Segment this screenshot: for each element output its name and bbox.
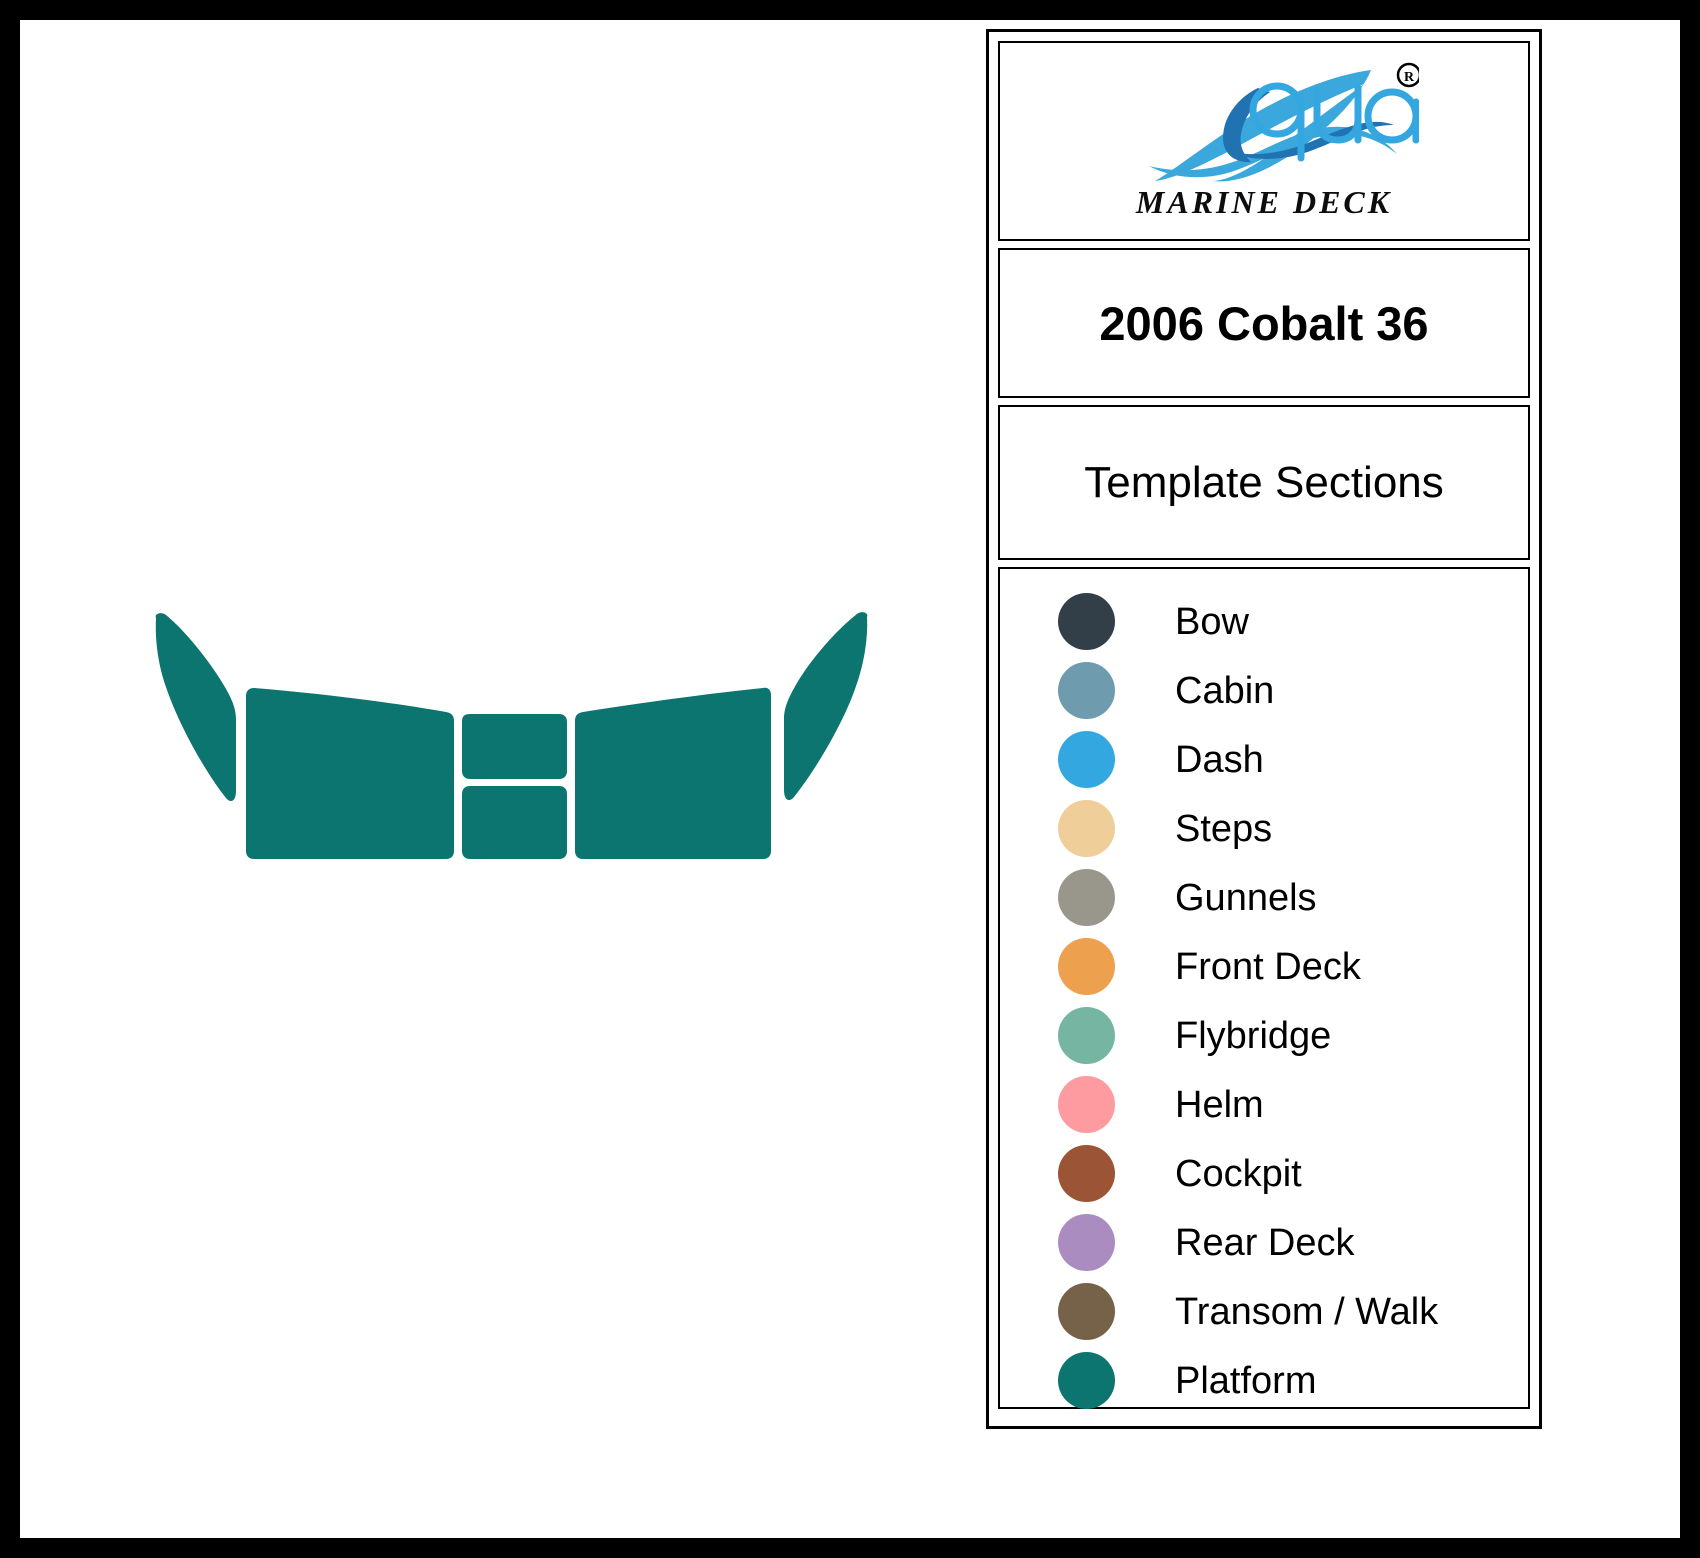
legend-box: Bow Cabin Dash Steps — [998, 567, 1530, 1409]
legend-item-transom-walk[interactable]: Transom / Walk — [1000, 1277, 1528, 1346]
model-title-box: 2006 Cobalt 36 — [998, 248, 1530, 398]
legend-item-rear-deck[interactable]: Rear Deck — [1000, 1208, 1528, 1277]
legend-item-label: Front Deck — [1175, 948, 1361, 986]
drawing-sheet-page: R MARINE DECK 2006 Cobalt 36 Template Se… — [0, 0, 1700, 1558]
platform-template-drawing — [20, 20, 985, 1538]
legend-item-gunnels[interactable]: Gunnels — [1000, 863, 1528, 932]
model-title: 2006 Cobalt 36 — [1099, 296, 1428, 351]
template-drawing-area — [20, 20, 985, 1538]
legend-swatch-icon — [1058, 1007, 1115, 1064]
legend-item-label: Cockpit — [1175, 1155, 1302, 1193]
piece-starboard-main-panel[interactable] — [575, 688, 771, 859]
legend-item-label: Steps — [1175, 810, 1272, 848]
legend-item-label: Transom / Walk — [1175, 1293, 1438, 1331]
legend-item-label: Platform — [1175, 1362, 1316, 1400]
template-sections-header-box: Template Sections — [998, 405, 1530, 560]
brand-wordmark: MARINE DECK — [1136, 184, 1392, 221]
legend-item-cockpit[interactable]: Cockpit — [1000, 1139, 1528, 1208]
legend-item-label: Helm — [1175, 1086, 1264, 1124]
legend-item-label: Flybridge — [1175, 1017, 1331, 1055]
piece-port-main-panel[interactable] — [246, 688, 454, 859]
legend-swatch-icon — [1058, 1145, 1115, 1202]
legend-item-helm[interactable]: Helm — [1000, 1070, 1528, 1139]
legend-item-steps[interactable]: Steps — [1000, 794, 1528, 863]
legend-item-label: Cabin — [1175, 672, 1274, 710]
legend-item-dash[interactable]: Dash — [1000, 725, 1528, 794]
piece-port-outer-wing[interactable] — [156, 613, 236, 801]
aqua-wave-logo-icon: R — [1109, 62, 1419, 182]
brand-logo-box: R MARINE DECK — [998, 41, 1530, 241]
legend-item-front-deck[interactable]: Front Deck — [1000, 932, 1528, 1001]
legend-list: Bow Cabin Dash Steps — [1000, 587, 1528, 1415]
legend-swatch-icon — [1058, 731, 1115, 788]
piece-center-upper-panel[interactable] — [462, 714, 567, 779]
svg-text:R: R — [1404, 70, 1415, 85]
legend-item-label: Dash — [1175, 741, 1264, 779]
white-sheet: R MARINE DECK 2006 Cobalt 36 Template Se… — [20, 20, 1680, 1538]
piece-center-lower-panel[interactable] — [462, 786, 567, 859]
legend-item-cabin[interactable]: Cabin — [1000, 656, 1528, 725]
registered-trademark-icon: R — [1398, 64, 1419, 86]
legend-swatch-icon — [1058, 869, 1115, 926]
piece-starboard-outer-wing[interactable] — [784, 612, 867, 800]
legend-item-label: Gunnels — [1175, 879, 1317, 917]
legend-swatch-icon — [1058, 593, 1115, 650]
legend-swatch-icon — [1058, 662, 1115, 719]
template-sections-title: Template Sections — [1084, 458, 1444, 508]
info-panel: R MARINE DECK 2006 Cobalt 36 Template Se… — [986, 29, 1542, 1429]
legend-swatch-icon — [1058, 938, 1115, 995]
legend-item-flybridge[interactable]: Flybridge — [1000, 1001, 1528, 1070]
legend-item-label: Rear Deck — [1175, 1224, 1355, 1262]
legend-swatch-icon — [1058, 1352, 1115, 1409]
legend-swatch-icon — [1058, 1283, 1115, 1340]
legend-item-bow[interactable]: Bow — [1000, 587, 1528, 656]
legend-item-platform[interactable]: Platform — [1000, 1346, 1528, 1415]
legend-item-label: Bow — [1175, 603, 1249, 641]
legend-swatch-icon — [1058, 1076, 1115, 1133]
legend-swatch-icon — [1058, 1214, 1115, 1271]
legend-swatch-icon — [1058, 800, 1115, 857]
